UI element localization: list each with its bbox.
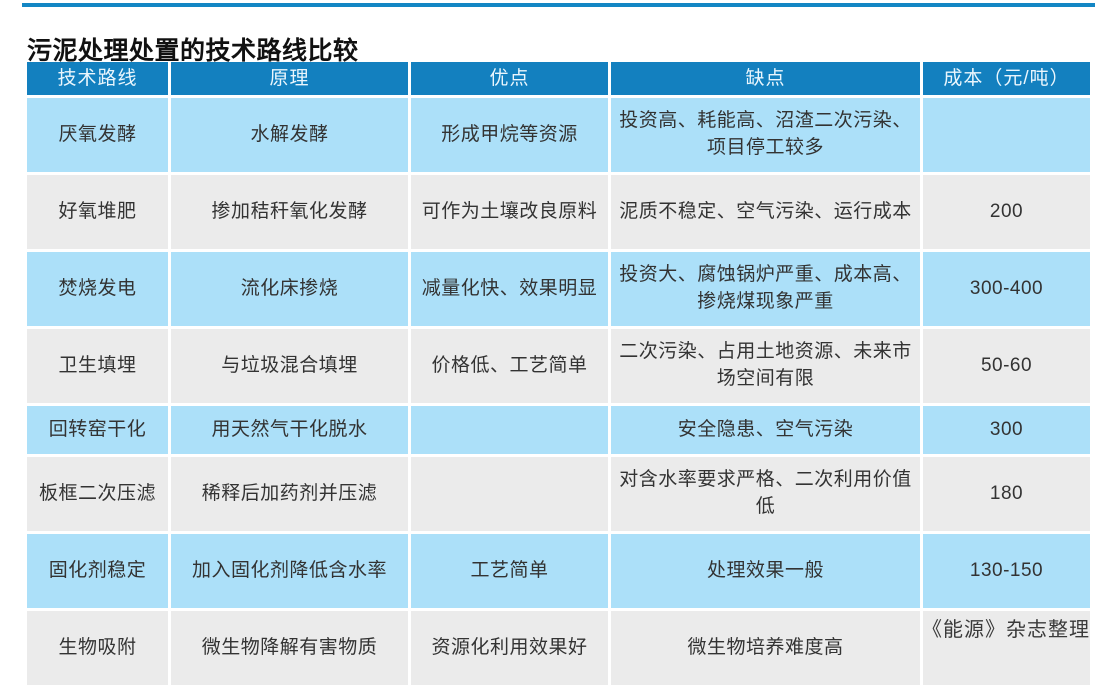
- slide-canvas: 污泥处理处置的技术路线比较 技术路线 原理 优点 缺点 成本（元/吨） 厌氧发酵…: [0, 0, 1117, 662]
- cell-route: 厌氧发酵: [27, 98, 168, 172]
- table-row: 固化剂稳定 加入固化剂降低含水率 工艺简单 处理效果一般 130-150: [27, 534, 1090, 608]
- cell-advantage: 价格低、工艺简单: [411, 329, 608, 403]
- column-header-cost: 成本（元/吨）: [923, 62, 1090, 95]
- technology-comparison-table: 技术路线 原理 优点 缺点 成本（元/吨） 厌氧发酵 水解发酵 形成甲烷等资源 …: [24, 59, 1093, 688]
- cell-disadvantage: 对含水率要求严格、二次利用价值低: [611, 457, 920, 531]
- cell-cost: 300-400: [923, 252, 1090, 326]
- table-row: 厌氧发酵 水解发酵 形成甲烷等资源 投资高、耗能高、沼渣二次污染、项目停工较多: [27, 98, 1090, 172]
- cell-principle: 用天然气干化脱水: [171, 406, 408, 454]
- cell-cost: [923, 98, 1090, 172]
- cell-cost: 180: [923, 457, 1090, 531]
- cell-disadvantage: 投资高、耗能高、沼渣二次污染、项目停工较多: [611, 98, 920, 172]
- cell-advantage: 减量化快、效果明显: [411, 252, 608, 326]
- table-header: 技术路线 原理 优点 缺点 成本（元/吨）: [27, 62, 1090, 95]
- table-row: 焚烧发电 流化床掺烧 减量化快、效果明显 投资大、腐蚀锅炉严重、成本高、掺烧煤现…: [27, 252, 1090, 326]
- table-row: 回转窑干化 用天然气干化脱水 安全隐患、空气污染 300: [27, 406, 1090, 454]
- cell-route: 生物吸附: [27, 611, 168, 685]
- cell-advantage: 资源化利用效果好: [411, 611, 608, 685]
- cell-cost: 50-60: [923, 329, 1090, 403]
- cell-principle: 微生物降解有害物质: [171, 611, 408, 685]
- column-header-advantage: 优点: [411, 62, 608, 95]
- cell-route: 焚烧发电: [27, 252, 168, 326]
- column-header-principle: 原理: [171, 62, 408, 95]
- cell-advantage: 工艺简单: [411, 534, 608, 608]
- cell-disadvantage: 投资大、腐蚀锅炉严重、成本高、掺烧煤现象严重: [611, 252, 920, 326]
- comparison-table-container: 技术路线 原理 优点 缺点 成本（元/吨） 厌氧发酵 水解发酵 形成甲烷等资源 …: [27, 62, 1090, 685]
- source-credit: 《能源》杂志整理: [922, 613, 1090, 642]
- cell-cost: 130-150: [923, 534, 1090, 608]
- table-row: 卫生填埋 与垃圾混合填埋 价格低、工艺简单 二次污染、占用土地资源、未来市场空间…: [27, 329, 1090, 403]
- table-row: 板框二次压滤 稀释后加药剂并压滤 对含水率要求严格、二次利用价值低 180: [27, 457, 1090, 531]
- cell-principle: 与垃圾混合填埋: [171, 329, 408, 403]
- table-row: 好氧堆肥 掺加秸秆氧化发酵 可作为土壤改良原料 泥质不稳定、空气污染、运行成本 …: [27, 175, 1090, 249]
- cell-principle: 加入固化剂降低含水率: [171, 534, 408, 608]
- cell-disadvantage: 微生物培养难度高: [611, 611, 920, 685]
- cell-route: 好氧堆肥: [27, 175, 168, 249]
- cell-principle: 掺加秸秆氧化发酵: [171, 175, 408, 249]
- top-accent-rule: [22, 3, 1095, 7]
- cell-route: 板框二次压滤: [27, 457, 168, 531]
- cell-disadvantage: 二次污染、占用土地资源、未来市场空间有限: [611, 329, 920, 403]
- table-header-row: 技术路线 原理 优点 缺点 成本（元/吨）: [27, 62, 1090, 95]
- cell-advantage: [411, 457, 608, 531]
- cell-principle: 水解发酵: [171, 98, 408, 172]
- cell-route: 卫生填埋: [27, 329, 168, 403]
- cell-route: 固化剂稳定: [27, 534, 168, 608]
- cell-cost: 200: [923, 175, 1090, 249]
- cell-advantage: 形成甲烷等资源: [411, 98, 608, 172]
- cell-principle: 稀释后加药剂并压滤: [171, 457, 408, 531]
- cell-disadvantage: 安全隐患、空气污染: [611, 406, 920, 454]
- cell-cost: 300: [923, 406, 1090, 454]
- table-body: 厌氧发酵 水解发酵 形成甲烷等资源 投资高、耗能高、沼渣二次污染、项目停工较多 …: [27, 98, 1090, 685]
- cell-advantage: 可作为土壤改良原料: [411, 175, 608, 249]
- cell-route: 回转窑干化: [27, 406, 168, 454]
- column-header-disadvantage: 缺点: [611, 62, 920, 95]
- cell-principle: 流化床掺烧: [171, 252, 408, 326]
- cell-disadvantage: 泥质不稳定、空气污染、运行成本: [611, 175, 920, 249]
- cell-disadvantage: 处理效果一般: [611, 534, 920, 608]
- column-header-route: 技术路线: [27, 62, 168, 95]
- cell-advantage: [411, 406, 608, 454]
